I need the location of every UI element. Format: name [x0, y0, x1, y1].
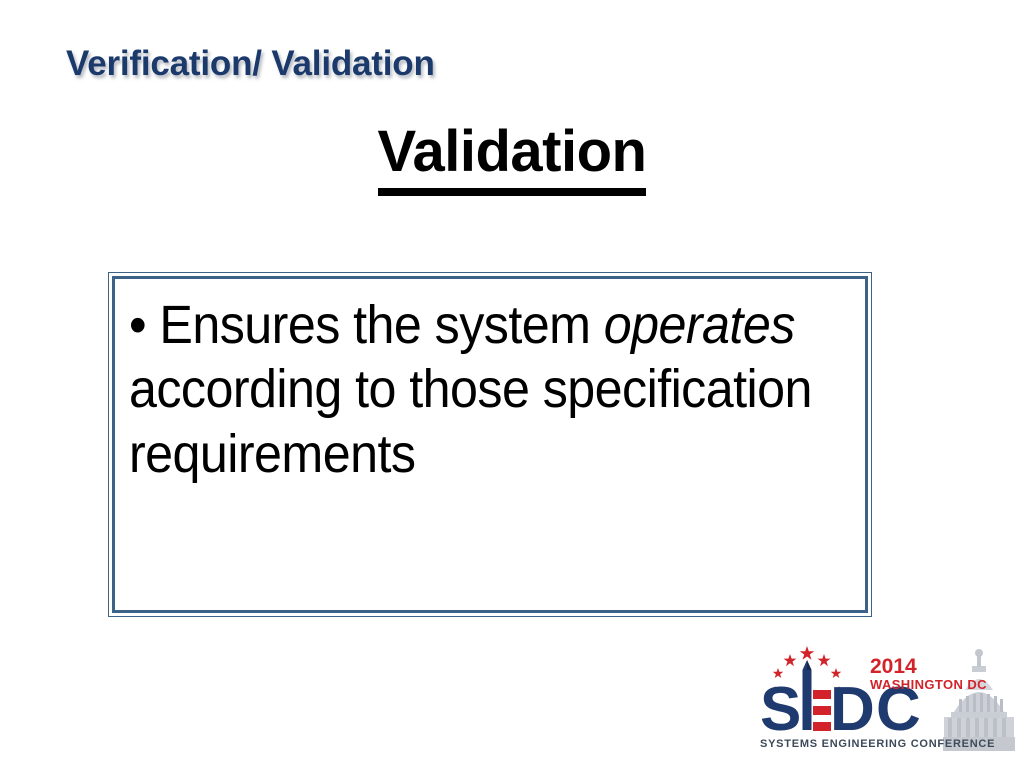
slide-title: Verification/ Validation [66, 44, 435, 84]
sedc-conference-logo: S D C 2014 WASHINGTON DC SYSTEMS ENGINEE… [758, 642, 1020, 754]
page-title: Validation [378, 122, 647, 196]
bullet-marker: • [129, 295, 146, 355]
sedc-letter-e [813, 690, 831, 731]
logo-year: 2014 [870, 655, 917, 678]
bullet-list-item: • Ensures the system operates according … [129, 293, 849, 486]
logo-tagline: SYSTEMS ENGINEERING CONFERENCE [760, 738, 995, 750]
content-box: • Ensures the system operates according … [108, 272, 872, 617]
bullet-text-after: according to those specification require… [129, 359, 812, 483]
slide-canvas: Verification/ Validation Validation • En… [0, 0, 1024, 768]
bullet-text-before: Ensures the system [146, 295, 604, 355]
washington-monument-icon [803, 660, 812, 730]
heading-container: Validation [0, 122, 1024, 196]
bullet-text-emphasis: operates [604, 295, 795, 355]
capitol-dome-icon [943, 649, 1015, 751]
svg-text:D: D [830, 675, 874, 744]
svg-text:S: S [760, 675, 800, 744]
content-box-inner: • Ensures the system operates according … [112, 276, 868, 613]
logo-location: WASHINGTON DC [870, 677, 987, 692]
